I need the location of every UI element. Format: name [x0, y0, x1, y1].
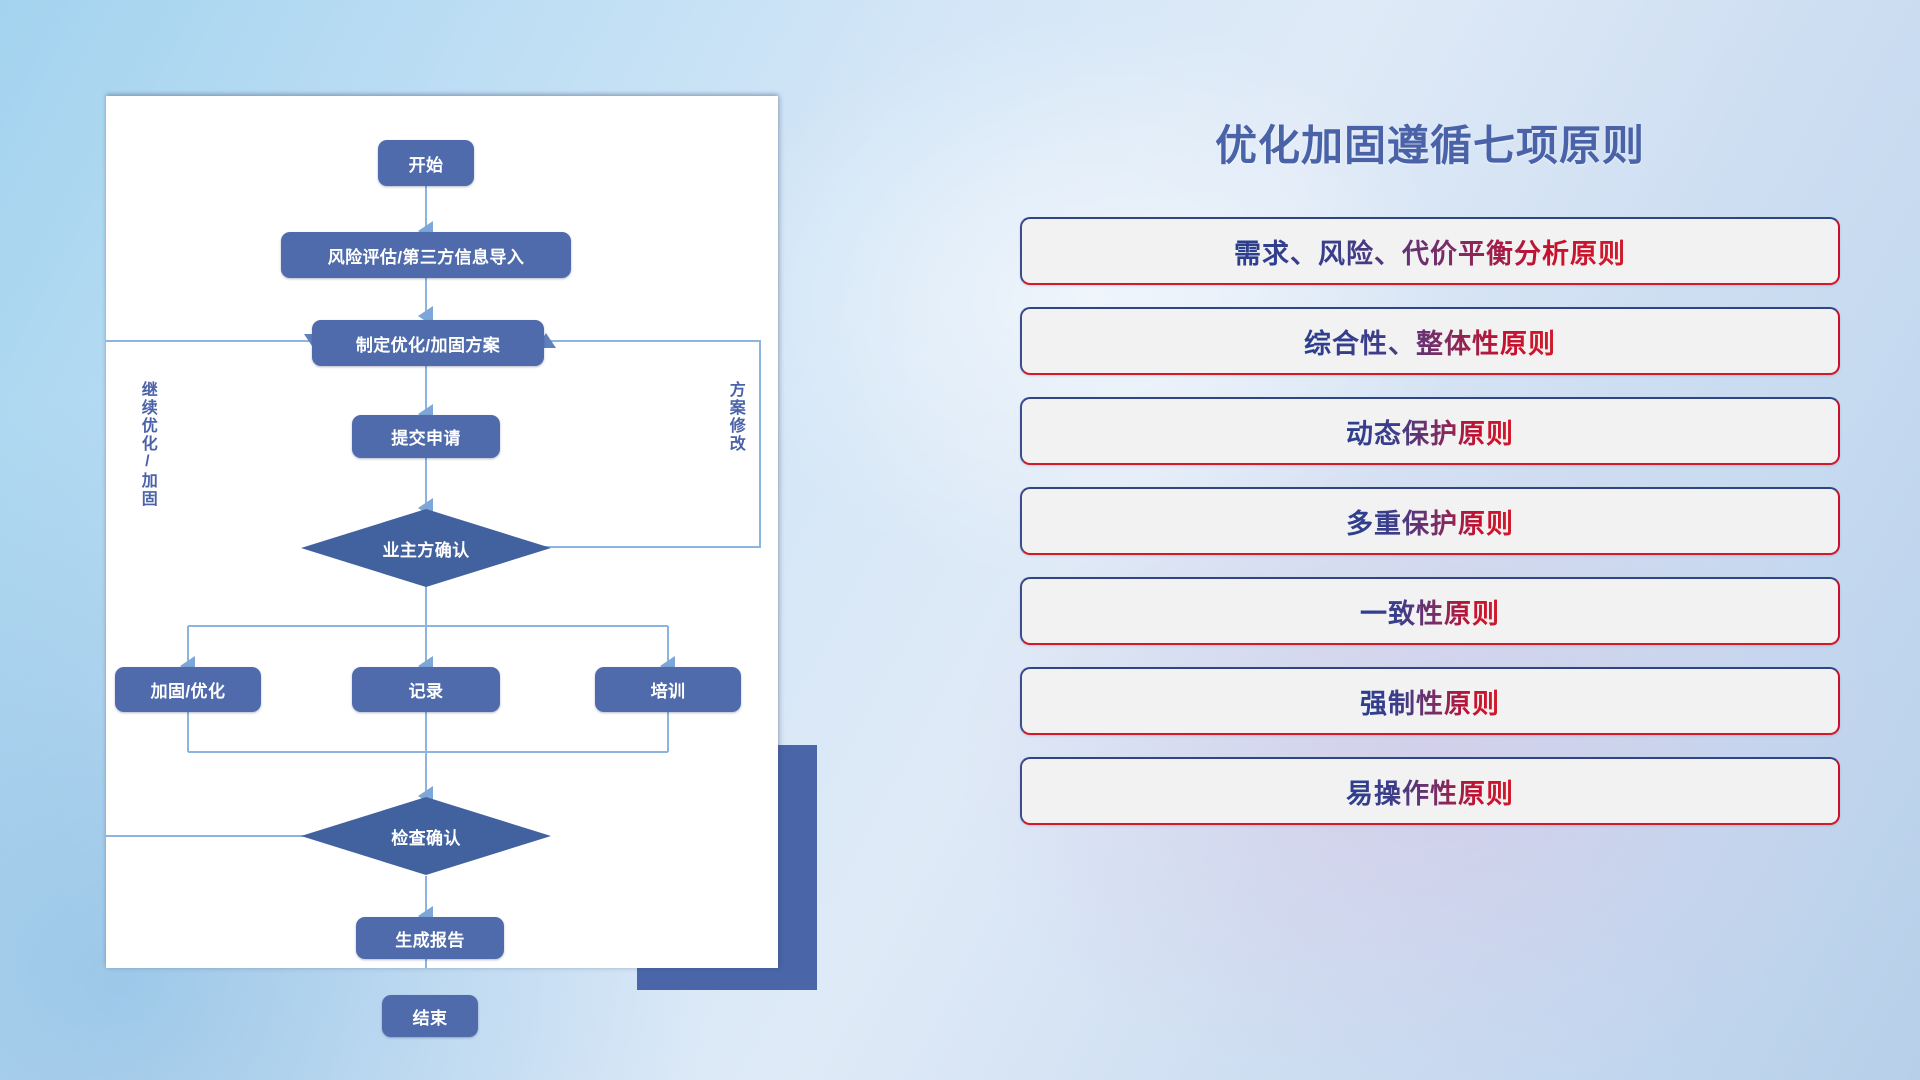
principle-label: 多重保护原则: [1346, 502, 1514, 541]
flow-node-owner-confirmation[interactable]: 业主方确认: [301, 509, 551, 587]
principles-list: 需求、风险、代价平衡分析原则 综合性、整体性原则 动态保护原则 多重保护原则 一…: [1020, 217, 1840, 825]
flow-node-reinforce-optimize[interactable]: 加固/优化: [115, 667, 261, 712]
principle-label: 需求、风险、代价平衡分析原则: [1234, 232, 1626, 271]
principle-item-4[interactable]: 多重保护原则: [1020, 487, 1840, 555]
flow-node-record[interactable]: 记录: [352, 667, 500, 712]
principle-item-5[interactable]: 一致性原则: [1020, 577, 1840, 645]
flow-node-label: 提交申请: [391, 424, 461, 449]
principle-item-7[interactable]: 易操作性原则: [1020, 757, 1840, 825]
flow-node-label: 风险评估/第三方信息导入: [328, 243, 525, 268]
page-title: 优化加固遵循七项原则: [1020, 112, 1840, 173]
principle-item-3[interactable]: 动态保护原则: [1020, 397, 1840, 465]
principle-label: 动态保护原则: [1346, 412, 1514, 451]
flow-node-label: 业主方确认: [383, 536, 470, 561]
flow-node-generate-report[interactable]: 生成报告: [356, 917, 504, 959]
flow-node-start[interactable]: 开始: [378, 140, 474, 186]
flow-node-label: 生成报告: [395, 926, 465, 951]
flow-node-make-plan[interactable]: 制定优化/加固方案: [312, 320, 544, 366]
flow-node-label: 结束: [413, 1004, 448, 1029]
principle-label: 强制性原则: [1360, 682, 1500, 721]
edge-label-plan-revision: 方案修改: [726, 381, 743, 521]
flowchart-card: 开始 风险评估/第三方信息导入 制定优化/加固方案 提交申请 业主方确认 加固/…: [106, 96, 778, 968]
flow-node-check-confirmation[interactable]: 检查确认: [301, 797, 551, 875]
edge-label-continue-optimize: 继续优化/加固: [138, 381, 155, 581]
flow-node-risk-assessment[interactable]: 风险评估/第三方信息导入: [281, 232, 571, 278]
flow-node-end[interactable]: 结束: [382, 995, 478, 1037]
principle-item-1[interactable]: 需求、风险、代价平衡分析原则: [1020, 217, 1840, 285]
flow-node-label: 开始: [409, 151, 444, 176]
flow-node-label: 记录: [409, 677, 444, 702]
principle-label: 易操作性原则: [1346, 772, 1514, 811]
flow-node-label: 制定优化/加固方案: [356, 331, 500, 356]
flow-node-submit-application[interactable]: 提交申请: [352, 415, 500, 458]
flow-node-label: 检查确认: [391, 824, 461, 849]
principle-item-6[interactable]: 强制性原则: [1020, 667, 1840, 735]
flow-node-training[interactable]: 培训: [595, 667, 741, 712]
flow-node-label: 培训: [651, 677, 686, 702]
flow-node-label: 加固/优化: [151, 677, 226, 702]
principle-label: 综合性、整体性原则: [1304, 322, 1556, 361]
principle-label: 一致性原则: [1360, 592, 1500, 631]
principle-item-2[interactable]: 综合性、整体性原则: [1020, 307, 1840, 375]
principles-panel: 优化加固遵循七项原则 需求、风险、代价平衡分析原则 综合性、整体性原则 动态保护…: [1020, 96, 1840, 1016]
